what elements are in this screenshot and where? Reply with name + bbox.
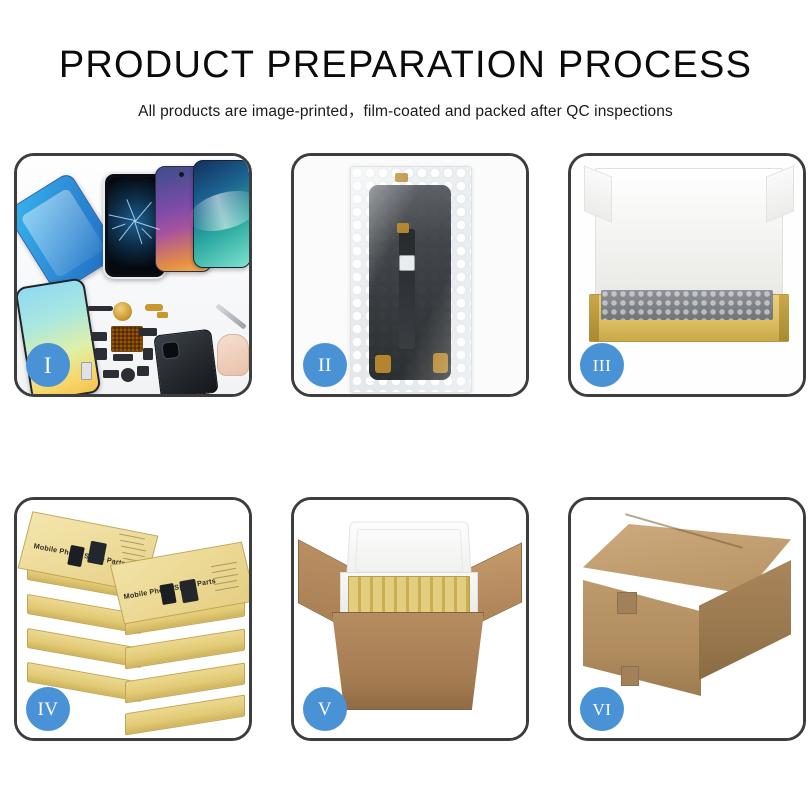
carton-tape-lower-icon: [621, 666, 639, 686]
bubble-wrap-icon: [350, 166, 472, 393]
connector-bottom-right-icon: [433, 353, 448, 373]
bubble-padding-icon: [601, 290, 773, 320]
step-panel-5: V: [291, 497, 529, 741]
white-box-lid-icon: [595, 168, 783, 300]
step-badge-4: IV: [26, 687, 70, 731]
step-panel-2: II: [291, 153, 529, 397]
connector-mid-icon: [397, 223, 409, 233]
step-badge-2: II: [303, 343, 347, 387]
page-header: PRODUCT PREPARATION PROCESS All products…: [0, 0, 811, 121]
step-badge-6: VI: [580, 687, 624, 731]
step-panel-6: VI: [568, 497, 806, 741]
back-housing-icon: [153, 329, 218, 394]
carton-body-icon: [332, 612, 484, 710]
flex-cable-icon: [399, 229, 415, 349]
process-steps-grid: I II: [14, 153, 797, 741]
step-panel-3: III: [568, 153, 806, 397]
page-subtitle: All products are image-printed，film-coat…: [0, 99, 811, 121]
kraft-boxes-inside-icon: [348, 576, 470, 618]
vibration-motor-icon: [113, 302, 132, 321]
step-panel-4: Mobile Phone Spare Parts Mobile Phone Sp…: [14, 497, 252, 741]
ic-chip-icon: [399, 255, 415, 271]
step-badge-5: V: [303, 687, 347, 731]
teal-phone-icon: [193, 160, 249, 268]
step-badge-1: I: [26, 343, 70, 387]
product-preparation-infographic: PRODUCT PREPARATION PROCESS All products…: [0, 0, 811, 811]
connector-bottom-left-icon: [375, 355, 391, 373]
hand-icon: [217, 334, 249, 376]
step-panel-1: I: [14, 153, 252, 397]
carton-tape-upper-icon: [617, 592, 637, 614]
page-title: PRODUCT PREPARATION PROCESS: [0, 46, 811, 86]
connector-top-icon: [395, 173, 408, 182]
crack-pattern-icon: [135, 221, 136, 222]
step-badge-3: III: [580, 343, 624, 387]
